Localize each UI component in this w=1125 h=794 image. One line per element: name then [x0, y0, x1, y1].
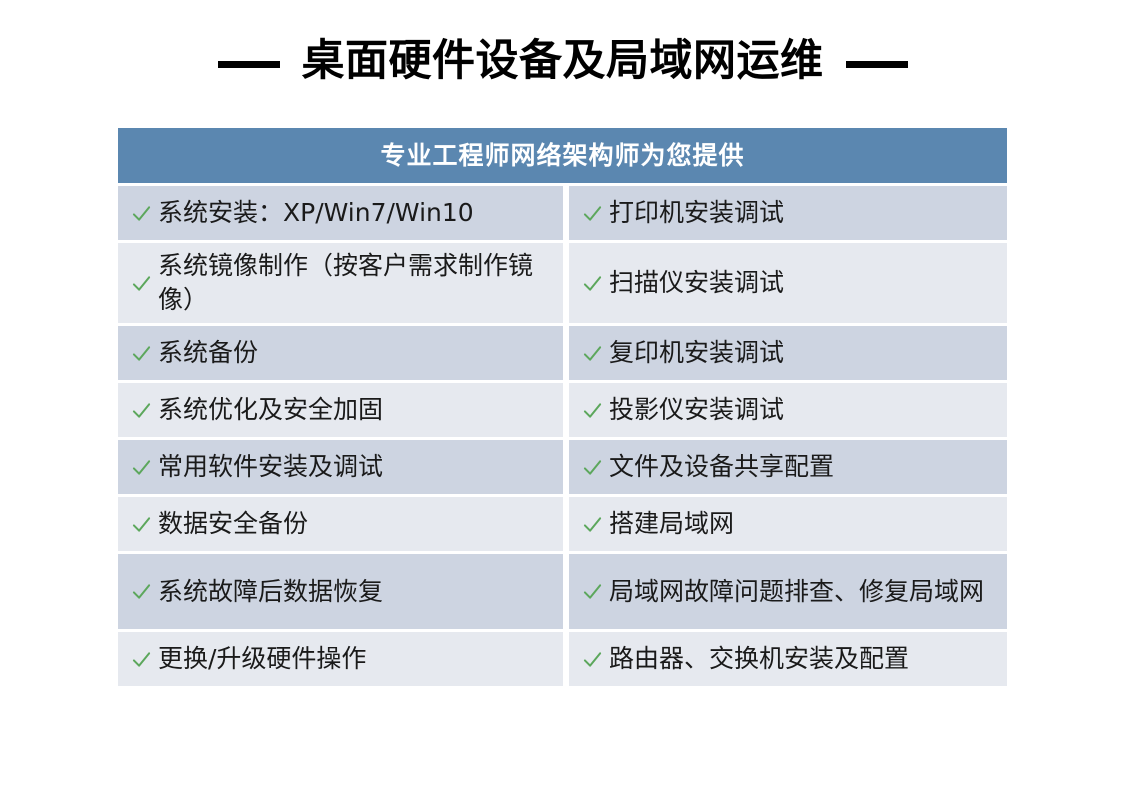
check-icon	[583, 650, 602, 669]
table-cell-text: 路由器、交换机安装及配置	[609, 642, 909, 676]
check-icon	[583, 204, 602, 223]
table-cell-right: 扫描仪安装调试	[569, 243, 1007, 323]
table-cell-right: 路由器、交换机安装及配置	[569, 632, 1007, 686]
table-cell-text: 局域网故障问题排查、修复局域网	[609, 575, 984, 609]
page-title-text: 桌面硬件设备及局域网运维	[302, 34, 824, 88]
table-cell-right: 局域网故障问题排查、修复局域网	[569, 554, 1007, 629]
table-row: 系统备份 复印机安装调试	[118, 326, 1007, 380]
check-icon	[132, 515, 151, 534]
table-row: 数据安全备份 搭建局域网	[118, 497, 1007, 551]
check-icon	[132, 274, 151, 293]
table-cell-left: 系统故障后数据恢复	[118, 554, 563, 629]
table-cell-text: 系统备份	[158, 336, 258, 370]
table-cell-right: 打印机安装调试	[569, 186, 1007, 240]
title-dash-right-icon	[846, 61, 908, 68]
table-row: 系统镜像制作（按客户需求制作镜像） 扫描仪安装调试	[118, 243, 1007, 323]
table-cell-text: 投影仪安装调试	[609, 393, 784, 427]
check-icon	[132, 650, 151, 669]
table-cell-text: 系统优化及安全加固	[158, 393, 383, 427]
check-icon	[583, 515, 602, 534]
table-cell-right: 投影仪安装调试	[569, 383, 1007, 437]
table-row: 更换/升级硬件操作 路由器、交换机安装及配置	[118, 632, 1007, 686]
table-cell-right: 搭建局域网	[569, 497, 1007, 551]
table-cell-left: 更换/升级硬件操作	[118, 632, 563, 686]
check-icon	[132, 582, 151, 601]
page-title: 桌面硬件设备及局域网运维	[0, 34, 1125, 88]
table-cell-text: 复印机安装调试	[609, 336, 784, 370]
check-icon	[583, 344, 602, 363]
table-cell-left: 数据安全备份	[118, 497, 563, 551]
check-icon	[132, 204, 151, 223]
title-dash-left-icon	[218, 61, 280, 68]
services-table: 专业工程师网络架构师为您提供 系统安装：XP/Win7/Win10 打印机安装调…	[118, 128, 1007, 689]
table-cell-text: 系统故障后数据恢复	[158, 575, 383, 609]
table-cell-text: 扫描仪安装调试	[609, 266, 784, 300]
table-cell-text: 更换/升级硬件操作	[158, 642, 366, 676]
table-header-row: 专业工程师网络架构师为您提供	[118, 128, 1007, 183]
check-icon	[583, 582, 602, 601]
check-icon	[132, 344, 151, 363]
table-cell-left: 常用软件安装及调试	[118, 440, 563, 494]
table-row: 系统优化及安全加固 投影仪安装调试	[118, 383, 1007, 437]
table-cell-text: 系统镜像制作（按客户需求制作镜像）	[158, 249, 553, 317]
table-cell-left: 系统优化及安全加固	[118, 383, 563, 437]
table-row: 常用软件安装及调试 文件及设备共享配置	[118, 440, 1007, 494]
table-cell-text: 搭建局域网	[609, 507, 734, 541]
check-icon	[132, 458, 151, 477]
table-cell-text: 文件及设备共享配置	[609, 450, 834, 484]
table-cell-text: 常用软件安装及调试	[158, 450, 383, 484]
table-cell-text: 数据安全备份	[158, 507, 308, 541]
check-icon	[132, 401, 151, 420]
check-icon	[583, 401, 602, 420]
table-cell-left: 系统安装：XP/Win7/Win10	[118, 186, 563, 240]
table-row: 系统安装：XP/Win7/Win10 打印机安装调试	[118, 186, 1007, 240]
table-cell-text: 系统安装：XP/Win7/Win10	[158, 196, 474, 230]
table-cell-text: 打印机安装调试	[609, 196, 784, 230]
check-icon	[583, 274, 602, 293]
table-header-label: 专业工程师网络架构师为您提供	[380, 143, 744, 168]
table-cell-right: 复印机安装调试	[569, 326, 1007, 380]
table-cell-left: 系统镜像制作（按客户需求制作镜像）	[118, 243, 563, 323]
table-cell-left: 系统备份	[118, 326, 563, 380]
check-icon	[583, 458, 602, 477]
table-body: 系统安装：XP/Win7/Win10 打印机安装调试 系统镜像制作（按客户需求制…	[118, 186, 1007, 686]
table-cell-right: 文件及设备共享配置	[569, 440, 1007, 494]
table-row: 系统故障后数据恢复 局域网故障问题排查、修复局域网	[118, 554, 1007, 629]
